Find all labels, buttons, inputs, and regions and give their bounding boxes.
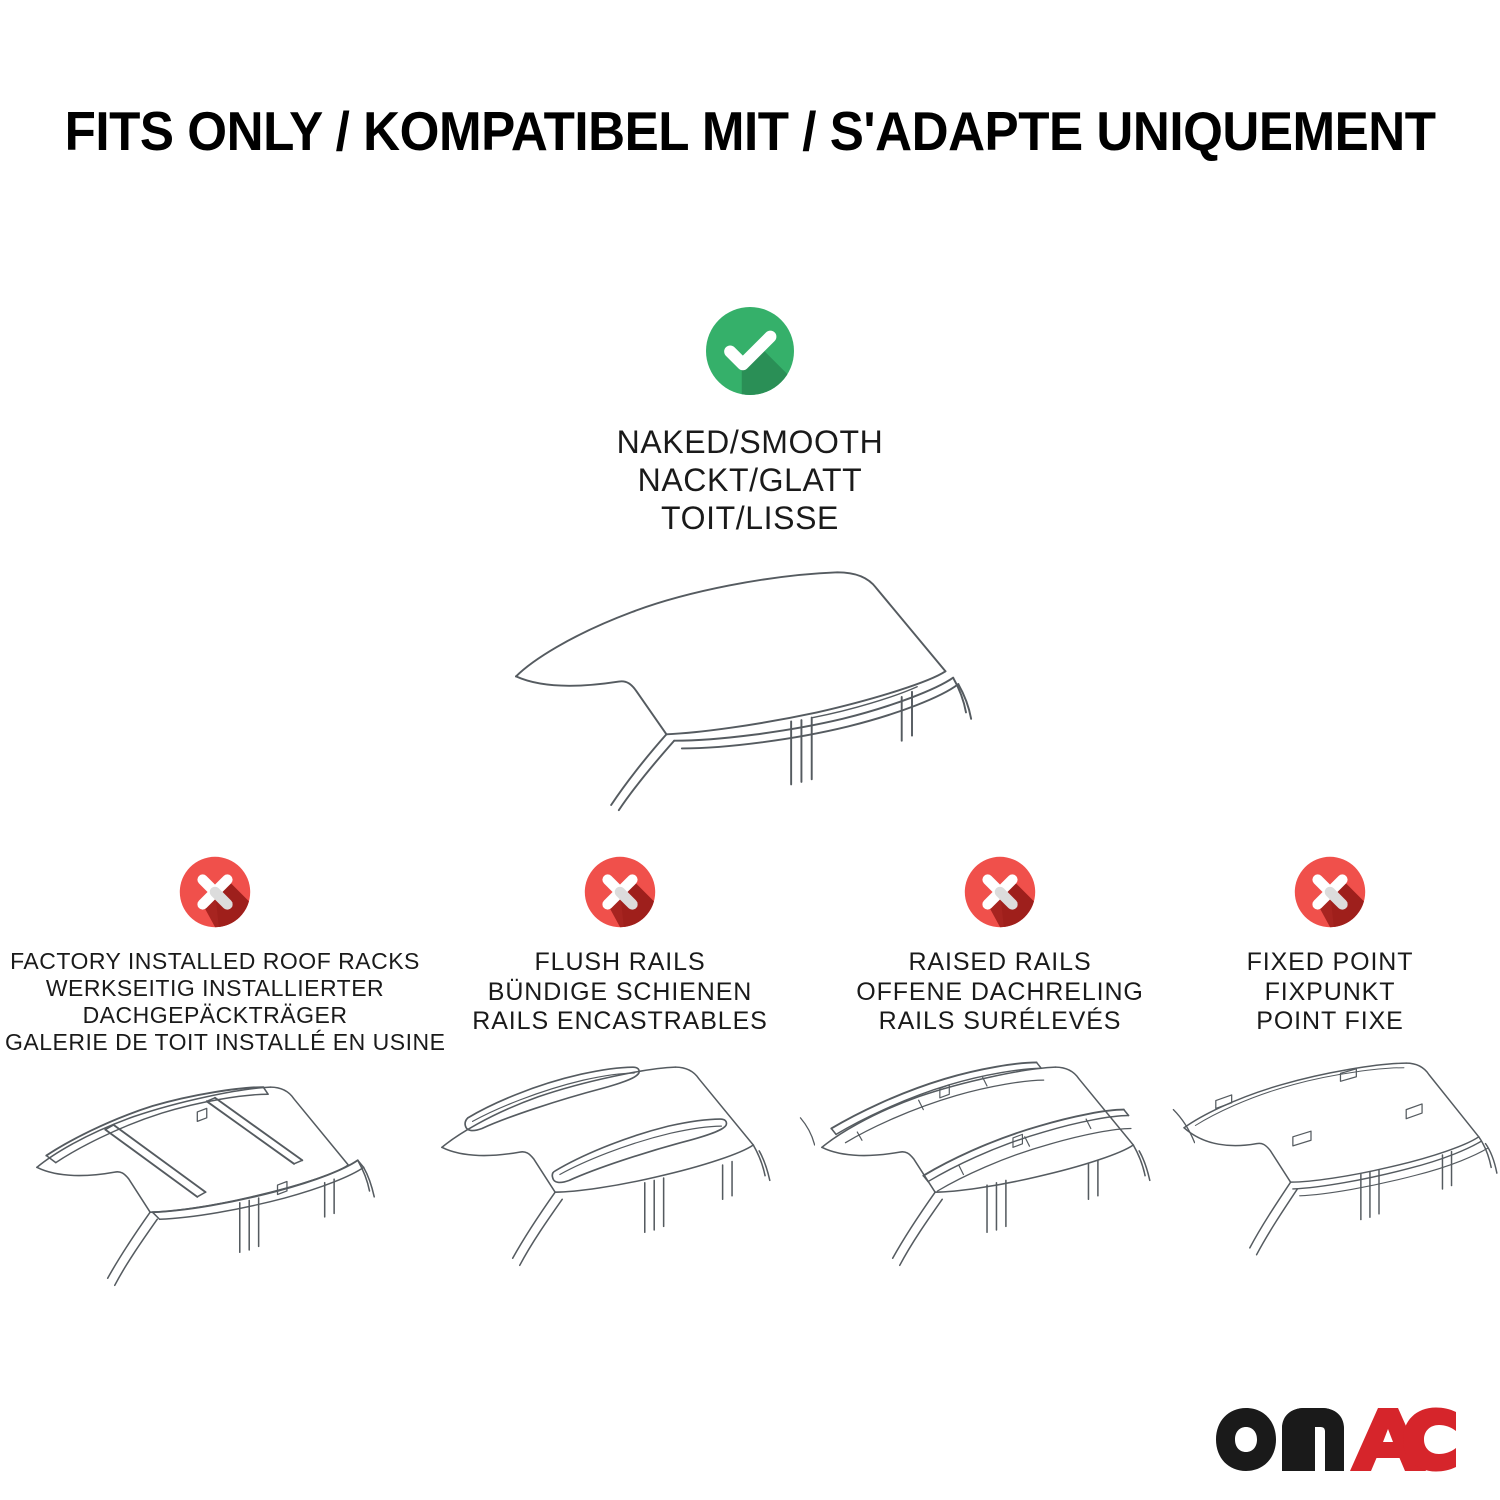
factory-roof-rack-illustration (5, 1073, 425, 1308)
incompatible-option-flush-rails: FLUSH RAILS BÜNDIGE SCHIENEN RAILS ENCAS… (425, 848, 815, 1288)
flush-label-line-3: RAILS ENCASTRABLES (425, 1007, 815, 1037)
incompatible-option-raised-rails: RAISED RAILS OFFENE DACHRELING RAILS SUR… (805, 848, 1195, 1288)
fixed-point-illustration (1175, 1053, 1485, 1288)
factory-label-line-1: FACTORY INSTALLED ROOF RACKS (5, 948, 425, 975)
cross-icon (576, 848, 664, 936)
compatible-label-block: NAKED/SMOOTH NACKT/GLATT TOIT/LISSE (450, 424, 1050, 537)
factory-label-block: FACTORY INSTALLED ROOF RACKS WERKSEITIG … (5, 948, 425, 1057)
fixed-label-block: FIXED POINT FIXPUNKT POINT FIXE (1175, 948, 1485, 1037)
omac-logo (1212, 1404, 1460, 1478)
fixed-badge-wrap (1175, 848, 1485, 936)
incompatible-option-factory-installed-roof-racks: FACTORY INSTALLED ROOF RACKS WERKSEITIG … (5, 848, 425, 1308)
raised-label-line-1: RAISED RAILS (805, 948, 1195, 978)
compatible-label-line-3: TOIT/LISSE (450, 500, 1050, 538)
fixed-label-line-2: FIXPUNKT (1175, 978, 1485, 1008)
factory-label-line-3: DACHGEPÄCKTRÄGER (5, 1002, 425, 1029)
fixed-label-line-1: FIXED POINT (1175, 948, 1485, 978)
logo-letter-m (1282, 1408, 1344, 1471)
compatible-label-line-1: NAKED/SMOOTH (450, 424, 1050, 462)
incompatible-option-fixed-point: FIXED POINT FIXPUNKT POINT FIXE (1175, 848, 1485, 1288)
page-title-text: FITS ONLY / KOMPATIBEL MIT / S'ADAPTE UN… (65, 104, 1436, 159)
factory-label-line-4: GALERIE DE TOIT INSTALLÉ EN USINE (5, 1029, 425, 1056)
cross-icon (1286, 848, 1374, 936)
check-icon (695, 296, 805, 406)
cross-icon (956, 848, 1044, 936)
factory-badge-wrap (5, 848, 425, 936)
page-title: FITS ONLY / KOMPATIBEL MIT / S'ADAPTE UN… (0, 104, 1500, 159)
compatible-option-naked-smooth: NAKED/SMOOTH NACKT/GLATT TOIT/LISSE (450, 296, 1050, 828)
raised-badge-wrap (805, 848, 1195, 936)
flush-rails-illustration (425, 1053, 815, 1288)
raised-label-block: RAISED RAILS OFFENE DACHRELING RAILS SUR… (805, 948, 1195, 1037)
naked-smooth-roof-illustration (450, 553, 1050, 828)
logo-letter-o (1216, 1408, 1276, 1471)
flush-label-line-1: FLUSH RAILS (425, 948, 815, 978)
cross-icon (171, 848, 259, 936)
raised-label-line-2: OFFENE DACHRELING (805, 978, 1195, 1008)
fixed-label-line-3: POINT FIXE (1175, 1007, 1485, 1037)
raised-rails-illustration (805, 1053, 1195, 1288)
compatible-badge-wrap (450, 296, 1050, 406)
factory-label-line-2: WERKSEITIG INSTALLIERTER (5, 975, 425, 1002)
flush-label-block: FLUSH RAILS BÜNDIGE SCHIENEN RAILS ENCAS… (425, 948, 815, 1037)
compatible-label-line-2: NACKT/GLATT (450, 462, 1050, 500)
flush-label-line-2: BÜNDIGE SCHIENEN (425, 978, 815, 1008)
flush-badge-wrap (425, 848, 815, 936)
raised-label-line-3: RAILS SURÉLEVÉS (805, 1007, 1195, 1037)
